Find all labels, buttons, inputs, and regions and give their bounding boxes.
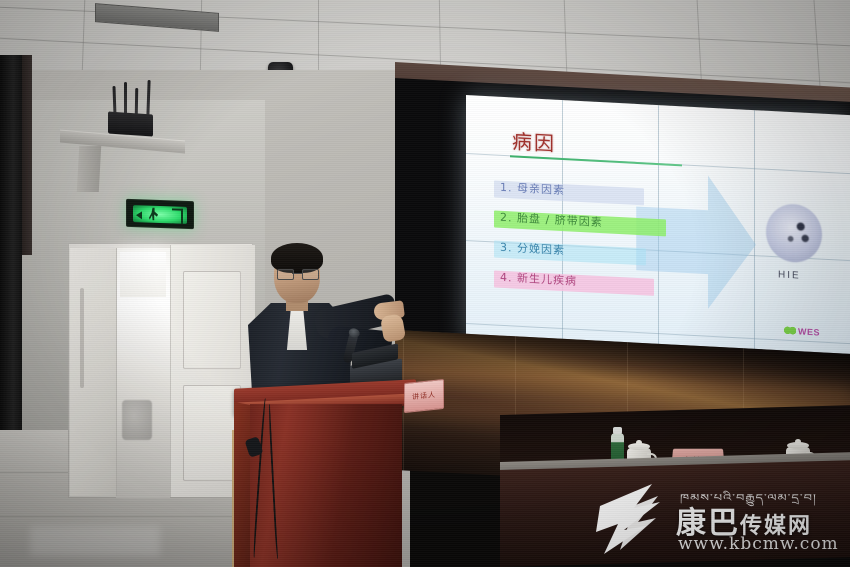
arrow-right-icon (636, 166, 756, 317)
podium-nameplate: 讲话人 (404, 379, 444, 413)
hie-brain-image (766, 203, 822, 264)
exit-sign-glow (133, 205, 187, 224)
antenna-icon (124, 82, 127, 116)
antenna-icon (135, 88, 138, 116)
watermark: ཁམས་པའི་བརྒྱུད་ལམ་དྲ་བ། 康巴传媒网 www.kbcmw.… (588, 474, 850, 562)
antenna-unit (108, 111, 153, 136)
adjacent-room-object (122, 400, 152, 440)
emergency-exit-sign (126, 199, 194, 229)
wes-logo: WES (784, 326, 820, 338)
slide-bullet-label: 3. 分娩因素 (500, 239, 565, 258)
running-person-icon (149, 207, 158, 220)
kbcmw-logo-icon (594, 480, 668, 558)
video-wall-screen[interactable]: 病因 1. 母亲因素2. 胎盘 / 脐带因素3. 分娩因素4. 新生儿疾病 HI… (466, 95, 850, 360)
wall-dark-strip (22, 55, 32, 255)
exit-arrow-icon (136, 211, 142, 219)
wes-logo-text: WES (798, 326, 820, 337)
wall-bracket-arm (77, 146, 101, 192)
slide-title: 病因 (512, 125, 556, 156)
adjacent-room-window (120, 252, 166, 297)
open-door-leaf[interactable] (70, 248, 117, 496)
exit-door-icon (172, 208, 183, 224)
podium-nameplate-text: 讲话人 (412, 390, 436, 403)
bottle-cap-icon (613, 427, 622, 434)
slide-bullet-label: 1. 母亲因素 (500, 179, 565, 198)
hie-caption: HIE (778, 269, 801, 281)
wes-logo-mark-icon (784, 326, 796, 336)
glasses-icon (277, 269, 317, 278)
slide-title-rule (510, 155, 682, 166)
photo-scene: 病因 1. 母亲因素2. 胎盘 / 脐带因素3. 分娩因素4. 新生儿疾病 HI… (0, 0, 850, 567)
watermark-url: www.kbcmw.com (678, 534, 839, 554)
open-hand-icon (380, 313, 406, 342)
